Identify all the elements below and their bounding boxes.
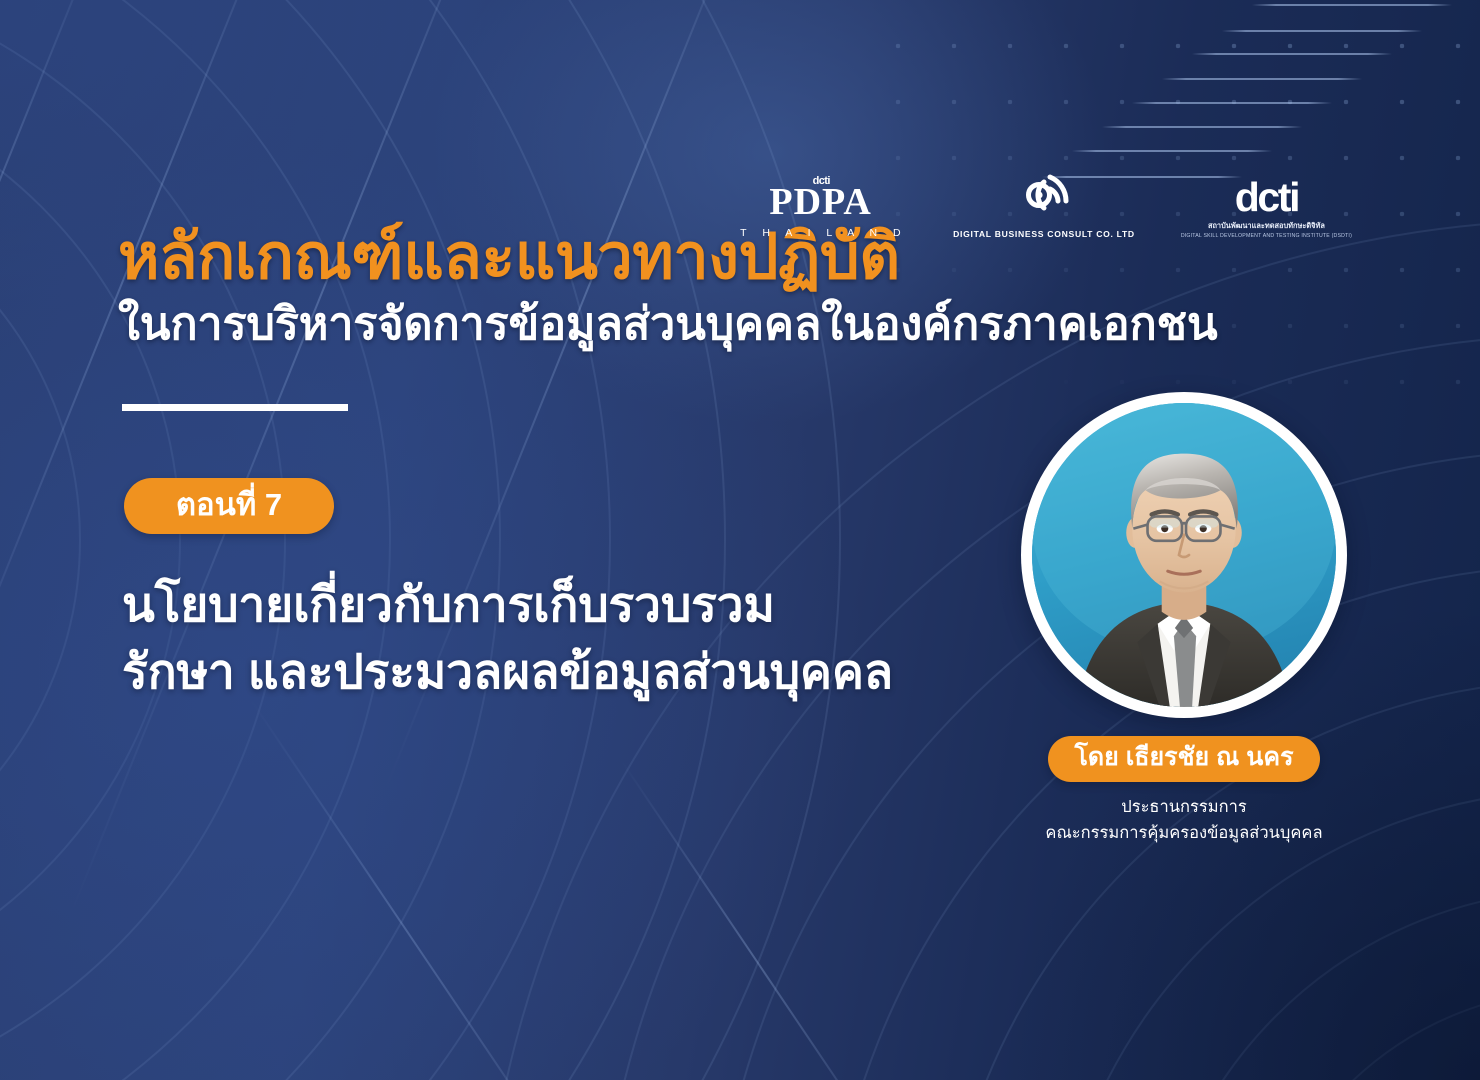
headline-block: หลักเกณฑ์และแนวทางปฏิบัติ ในการบริหารจัด… (118, 222, 1217, 350)
topic-block: นโยบายเกี่ยวกับการเก็บรวบรวม รักษา และปร… (122, 572, 893, 706)
wifi-signal-icon (953, 168, 1135, 223)
dcti-thai-name: สถาบันพัฒนาและทดสอบทักษะดิจิทัล (1181, 220, 1352, 232)
pdpa-country-label: T H A I L A N D (734, 227, 907, 239)
episode-badge: ตอนที่ 7 (124, 478, 334, 534)
speaker-role: ประธานกรรมการ คณะกรรมการคุ้มครองข้อมูลส่… (1014, 795, 1354, 846)
slide-canvas: dcti PDPA T H A I L A N D DIGITAL BUSINE… (0, 0, 1480, 1080)
logo-pdpa-thailand: dcti PDPA T H A I L A N D (734, 175, 907, 239)
pdpa-wordmark: PDPA (734, 183, 907, 221)
speaker-role-line1: ประธานกรรมการ (1014, 795, 1354, 821)
logo-bar: dcti PDPA T H A I L A N D DIGITAL BUSINE… (734, 168, 1352, 239)
headline-title-line2: ในการบริหารจัดการข้อมูลส่วนบุคคลในองค์กร… (118, 297, 1217, 350)
topic-line-1: นโยบายเกี่ยวกับการเก็บรวบรวม (122, 572, 893, 639)
portrait-ring (1021, 392, 1347, 718)
speaker-block: โดย เธียรชัย ณ นคร ประธานกรรมการ คณะกรรม… (1014, 392, 1354, 846)
speaker-portrait (1032, 403, 1336, 707)
speaker-name-badge: โดย เธียรชัย ณ นคร (1048, 736, 1319, 782)
dcti-english-name: DIGITAL SKILL DEVELOPMENT AND TESTING IN… (1181, 233, 1352, 239)
speaker-role-line2: คณะกรรมการคุ้มครองข้อมูลส่วนบุคคล (1014, 821, 1354, 847)
logo-dcti: dcti สถาบันพัฒนาและทดสอบทักษะดิจิทัล DIG… (1181, 179, 1352, 239)
topic-line-2: รักษา และประมวลผลข้อมูลส่วนบุคคล (122, 639, 893, 706)
logo-digital-business-consult: DIGITAL BUSINESS CONSULT CO. LTD (953, 168, 1135, 239)
pdpa-mini-dcti-mark: dcti (813, 175, 830, 187)
dcti-wordmark: dcti (1181, 179, 1352, 217)
title-divider-rule (122, 404, 348, 411)
dbc-caption: DIGITAL BUSINESS CONSULT CO. LTD (953, 229, 1135, 239)
